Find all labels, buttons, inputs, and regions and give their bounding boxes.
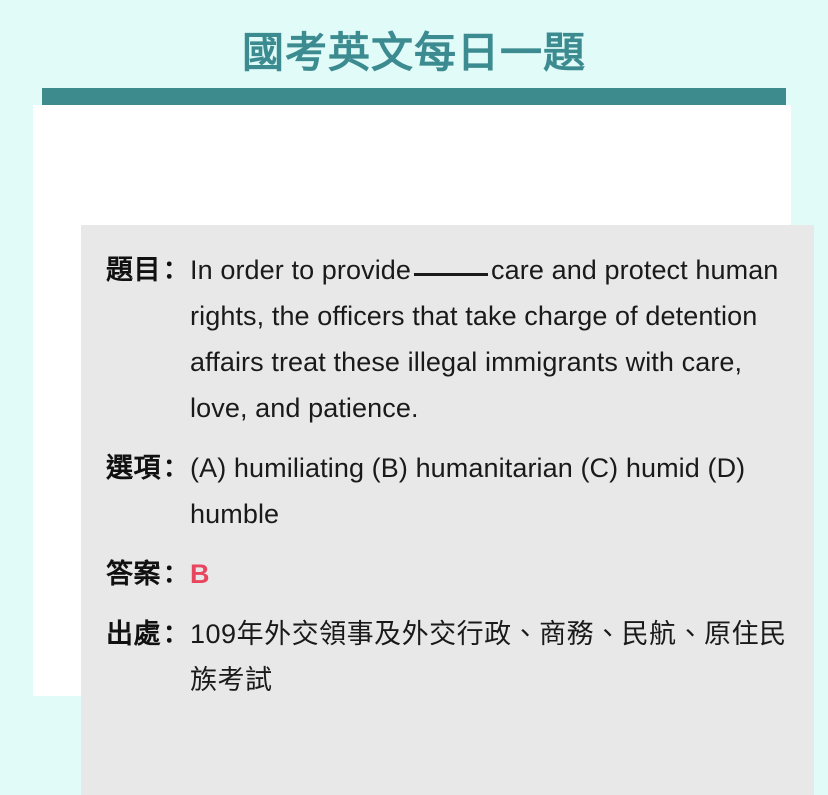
page-root: 國考英文每日一題 題目 ： In order to providecare an… — [0, 0, 828, 716]
question-row: 題目 ： In order to providecare and protect… — [106, 247, 796, 431]
answer-colon: ： — [161, 551, 190, 597]
source-colon: ： — [161, 611, 190, 657]
question-blank — [414, 273, 488, 276]
options-text: (A) humiliating (B) humanitarian (C) hum… — [190, 445, 796, 537]
options-colon: ： — [161, 445, 190, 491]
content-panel: 題目 ： In order to providecare and protect… — [33, 105, 791, 696]
options-label: 選項 — [106, 445, 161, 491]
page-header: 國考英文每日一題 — [0, 28, 828, 78]
question-text-before-blank: In order to provide — [190, 255, 411, 285]
source-text: 109年外交領事及外交行政、商務、民航、原住民族考試 — [190, 611, 796, 703]
answer-row: 答案 ： B — [106, 551, 796, 597]
page-title: 國考英文每日一題 — [242, 28, 586, 78]
answer-value: B — [190, 551, 796, 597]
accent-divider-bar — [42, 88, 786, 105]
source-label: 出處 — [106, 611, 161, 657]
question-card: 題目 ： In order to providecare and protect… — [81, 225, 814, 795]
options-row: 選項 ： (A) humiliating (B) humanitarian (C… — [106, 445, 796, 537]
question-label: 題目 — [106, 247, 161, 293]
question-text: In order to providecare and protect huma… — [190, 247, 796, 431]
question-colon: ： — [161, 247, 190, 293]
answer-label: 答案 — [106, 551, 161, 597]
source-row: 出處 ： 109年外交領事及外交行政、商務、民航、原住民族考試 — [106, 611, 796, 703]
